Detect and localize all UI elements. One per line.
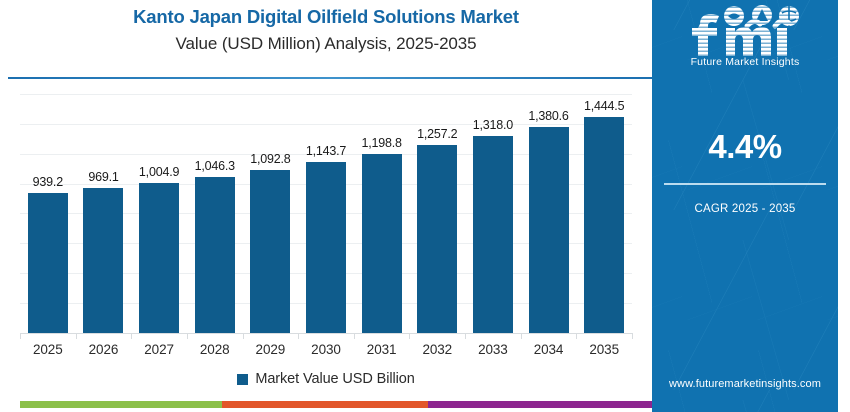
bar	[473, 136, 513, 333]
bar-value-label: 1,318.0	[461, 118, 525, 132]
x-axis-label: 2026	[71, 342, 135, 357]
bar	[195, 177, 235, 333]
bar	[28, 193, 68, 333]
bar-value-label: 1,004.9	[127, 165, 191, 179]
x-axis-label: 2031	[350, 342, 414, 357]
x-axis-tick	[131, 333, 132, 339]
bar-value-label: 939.2	[16, 175, 80, 189]
plot-area: 939.2969.11,004.91,046.31,092.81,143.71,…	[20, 88, 632, 333]
x-axis-label: 2029	[238, 342, 302, 357]
x-axis-label: 2032	[405, 342, 469, 357]
stripe-segment-purple	[428, 401, 652, 408]
cagr-value: 4.4%	[652, 128, 838, 166]
title-divider	[8, 77, 652, 79]
x-axis-tick	[76, 333, 77, 339]
chart-legend: Market Value USD Billion	[0, 371, 652, 387]
bar	[417, 145, 457, 333]
x-axis-label: 2025	[16, 342, 80, 357]
bar-value-label: 1,092.8	[238, 152, 302, 166]
x-axis-tick	[20, 333, 21, 339]
bar-value-label: 1,444.5	[572, 99, 636, 113]
bar	[529, 127, 569, 333]
x-axis-tick	[576, 333, 577, 339]
bar-column: 1,198.8	[362, 88, 402, 333]
x-axis-label: 2034	[517, 342, 581, 357]
stripe-segment-green	[20, 401, 222, 408]
legend-swatch-icon	[237, 374, 248, 385]
bar-column: 1,318.0	[473, 88, 513, 333]
chart-title: Kanto Japan Digital Oilfield Solutions M…	[0, 4, 652, 30]
bar-column: 1,257.2	[417, 88, 457, 333]
bar	[250, 170, 290, 333]
bar-value-label: 1,198.8	[350, 136, 414, 150]
chart-screenshot: Kanto Japan Digital Oilfield Solutions M…	[0, 0, 850, 412]
x-axis-line	[20, 333, 632, 334]
x-axis-tick	[409, 333, 410, 339]
logo-tagline: Future Market Insights	[652, 56, 838, 68]
bar	[584, 117, 624, 333]
bar-column: 1,444.5	[584, 88, 624, 333]
bar-column: 1,046.3	[195, 88, 235, 333]
x-axis-label: 2030	[294, 342, 358, 357]
bar	[83, 188, 123, 333]
x-axis-label: 2028	[183, 342, 247, 357]
bar-column: 969.1	[83, 88, 123, 333]
bar-column: 1,380.6	[529, 88, 569, 333]
cagr-caption: CAGR 2025 - 2035	[652, 203, 838, 215]
x-axis-tick	[521, 333, 522, 339]
bar-value-label: 1,257.2	[405, 127, 469, 141]
bar	[139, 183, 179, 333]
cagr-divider	[664, 183, 826, 185]
x-axis-label: 2027	[127, 342, 191, 357]
x-axis-tick	[298, 333, 299, 339]
x-axis-tick	[187, 333, 188, 339]
x-axis-label: 2035	[572, 342, 636, 357]
brand-panel: Future Market Insights 4.4% CAGR 2025 - …	[652, 0, 838, 412]
bar-value-label: 1,046.3	[183, 159, 247, 173]
x-axis-tick	[243, 333, 244, 339]
bar-value-label: 1,143.7	[294, 144, 358, 158]
bar	[306, 162, 346, 333]
x-axis-label: 2033	[461, 342, 525, 357]
stripe-segment-orange	[222, 401, 428, 408]
x-axis-tick	[465, 333, 466, 339]
bar-column: 1,004.9	[139, 88, 179, 333]
chart-subtitle: Value (USD Million) Analysis, 2025-2035	[0, 30, 652, 58]
x-axis-tick	[354, 333, 355, 339]
bar-column: 939.2	[28, 88, 68, 333]
bar-column: 1,143.7	[306, 88, 346, 333]
bar-value-label: 969.1	[71, 170, 135, 184]
chart-pane: Kanto Japan Digital Oilfield Solutions M…	[0, 0, 652, 412]
legend-label: Market Value USD Billion	[255, 371, 414, 387]
x-axis-tick	[632, 333, 633, 339]
brand-website-url: www.futuremarketinsights.com	[652, 378, 838, 390]
chart-header: Kanto Japan Digital Oilfield Solutions M…	[0, 4, 652, 58]
bar-value-label: 1,380.6	[517, 109, 581, 123]
bar-column: 1,092.8	[250, 88, 290, 333]
footer-color-stripe	[20, 401, 652, 408]
bar	[362, 154, 402, 333]
